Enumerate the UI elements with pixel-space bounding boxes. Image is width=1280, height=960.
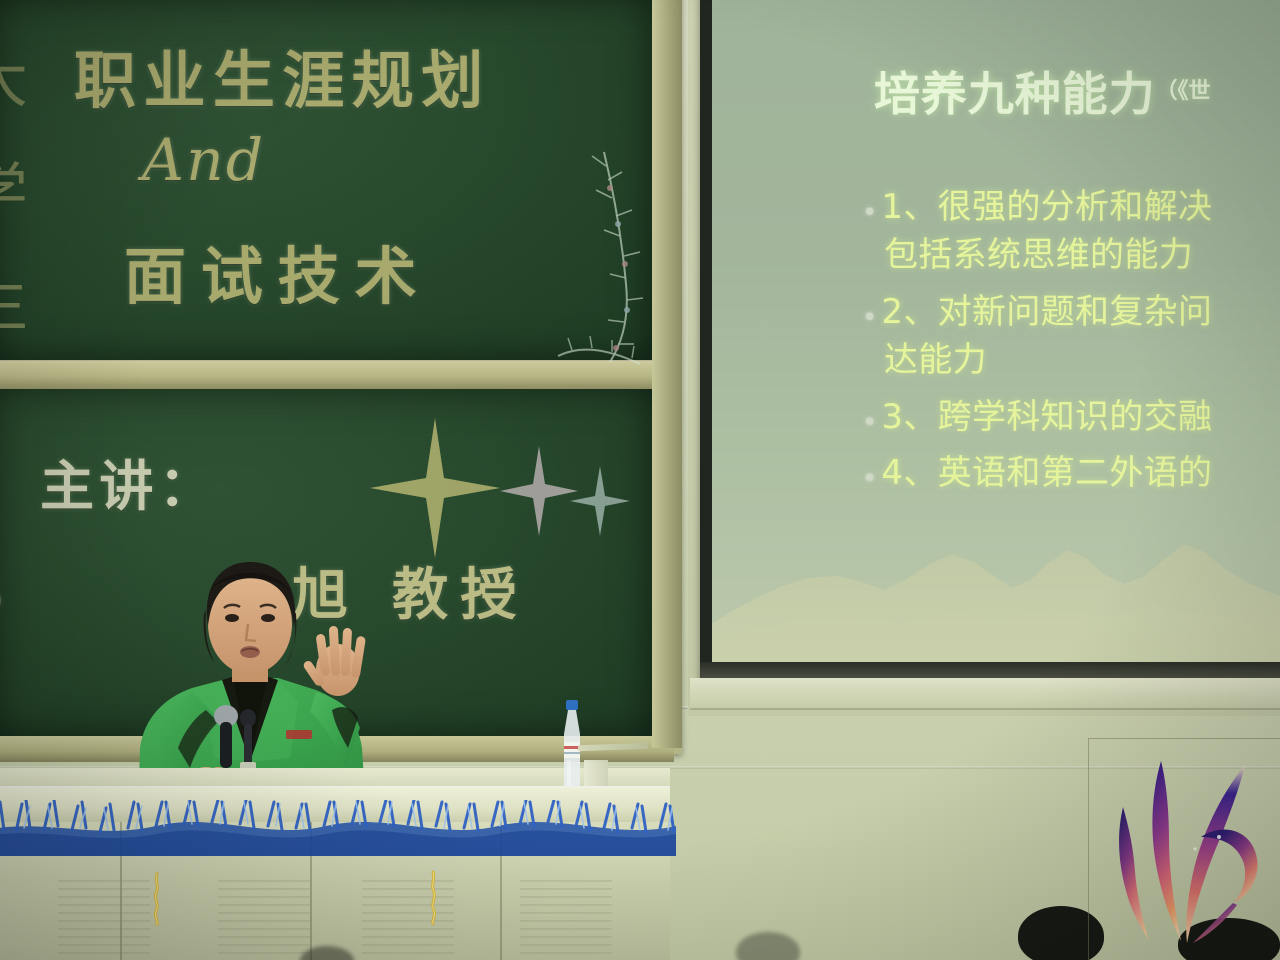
bullet-marker-icon: • xyxy=(862,200,877,226)
bullet-text: 1、很强的分析和解决 xyxy=(881,186,1212,230)
slide-title-text: 培养九种能力 xyxy=(874,67,1156,121)
wall-logo xyxy=(1088,738,1280,960)
blackboard-speaker-label: 主讲： xyxy=(40,442,218,521)
bullet-text: 3、跨学科知识的交融 xyxy=(881,396,1212,440)
list-item: 包括系统思维的能力 xyxy=(862,234,1280,278)
blackboard-title-line1: 职业生涯规划 xyxy=(74,30,491,120)
list-item: • 1、很强的分析和解决 xyxy=(862,186,1280,230)
screen-bottom-rail xyxy=(700,662,1280,678)
chalk-vine-decoration xyxy=(548,144,668,369)
slide-bullet-list: • 1、很强的分析和解决 包括系统思维的能力 • 2、对新问题和复杂问 达能力 … xyxy=(862,186,1280,499)
bullet-text: 包括系统思维的能力 xyxy=(884,234,1193,278)
gold-ribbon-icon xyxy=(152,838,162,960)
podium-panel-texture xyxy=(362,880,454,958)
bullet-text: 2、对新问题和复杂问 xyxy=(881,291,1212,335)
list-item: 达能力 xyxy=(862,339,1280,383)
bullet-marker-icon: • xyxy=(862,466,877,492)
blackboard-left-partial-text: 大学生 xyxy=(0,24,36,354)
list-item: • 2、对新问题和复杂问 xyxy=(862,291,1280,335)
bullet-marker-icon: • xyxy=(862,410,877,436)
star-blue-icon xyxy=(570,466,630,536)
star-yellow-icon xyxy=(370,418,500,558)
podium-panel-texture xyxy=(520,880,612,958)
bullet-text: 达能力 xyxy=(884,339,987,383)
screen-shelf xyxy=(690,678,1280,710)
blackboard-smudge-mark: 6 xyxy=(0,574,8,620)
bullet-marker-icon: • xyxy=(862,305,877,331)
blackboard-and-line: And xyxy=(142,126,265,194)
list-item: • 4、英语和第二外语的 xyxy=(862,452,1280,496)
blackboard-right-edge xyxy=(652,0,682,748)
blue-tinsel-garland xyxy=(0,800,676,856)
bullet-text: 4、英语和第二外语的 xyxy=(881,452,1212,496)
list-item: • 3、跨学科知识的交融 xyxy=(862,396,1280,440)
mountain-silhouette-graphic xyxy=(712,532,1280,662)
slide-title: 培养九种能力（《世 xyxy=(874,58,1211,124)
projection-screen: 培养九种能力（《世 • 1、很强的分析和解决 包括系统思维的能力 • 2、对新问… xyxy=(712,0,1280,662)
slide-title-paren: （《世 xyxy=(1156,79,1211,104)
star-pink-icon xyxy=(500,446,578,536)
four-plume-logo-icon xyxy=(1093,745,1279,945)
photo-scene: 培养九种能力（《世 • 1、很强的分析和解决 包括系统思维的能力 • 2、对新问… xyxy=(0,0,1280,960)
blackboard-title-line3: 面试技术 xyxy=(124,226,432,316)
podium-panel-texture xyxy=(58,880,150,958)
podium-panel-texture xyxy=(218,880,310,958)
